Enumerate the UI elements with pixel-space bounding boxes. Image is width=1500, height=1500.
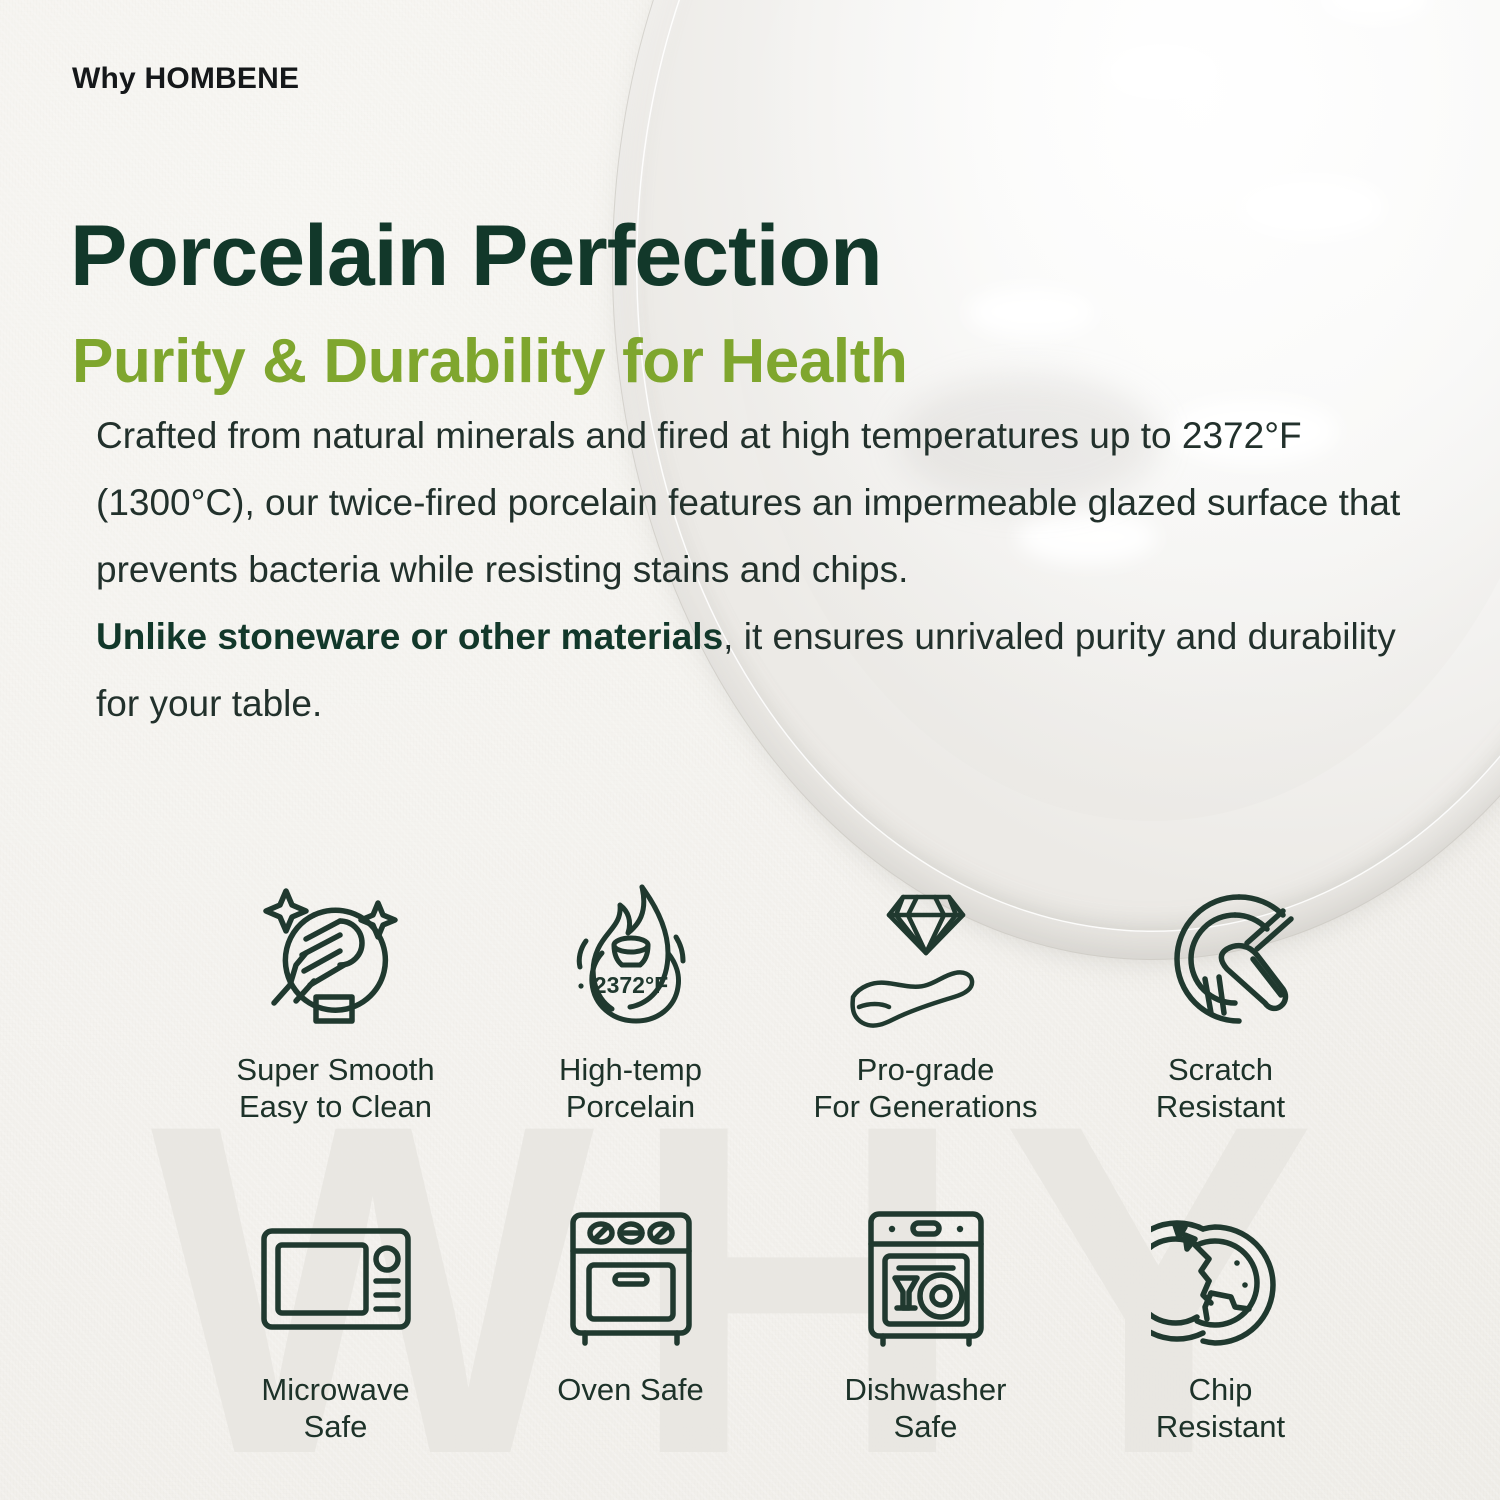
feature-grid: Super Smooth Easy to Clean [188,875,1368,1445]
eyebrow-heading: Why HOMBENE [72,62,299,96]
body-copy: Crafted from natural minerals and fired … [96,402,1416,737]
feature-item-scratch-resistant: Scratch Resistant [1073,875,1368,1125]
body-paragraph-1: Crafted from natural minerals and fired … [96,415,1400,590]
chipped-plate-icon [1151,1195,1291,1363]
diamond-in-hand-icon [841,875,1011,1043]
flame-temperature-icon: 2372°F [556,875,706,1043]
feature-item-super-smooth: Super Smooth Easy to Clean [188,875,483,1125]
infographic-page: WHY Why HOMBENE Porcelain Perfection Pur… [0,0,1500,1500]
feature-label: Pro-grade For Generations [814,1051,1038,1125]
flame-temp-badge: 2372°F [593,972,667,998]
page-title: Porcelain Perfection [70,213,882,299]
knife-scratch-plate-icon [1143,875,1298,1043]
feature-item-chip-resistant: Chip Resistant [1073,1195,1368,1445]
feature-label: High-temp Porcelain [559,1051,702,1125]
sparkle-hand-wipe-icon [256,875,416,1043]
feature-row-1: Super Smooth Easy to Clean [188,875,1368,1125]
feature-item-microwave-safe: Microwave Safe [188,1195,483,1445]
feature-label: Oven Safe [557,1371,703,1408]
feature-label: Super Smooth Easy to Clean [236,1051,434,1125]
feature-item-oven-safe: Oven Safe [483,1195,778,1445]
content-layer: Why HOMBENE Porcelain Perfection Purity … [0,0,1500,1500]
feature-row-2: Microwave Safe [188,1195,1368,1445]
body-paragraph-2-bold: Unlike stoneware or other materials [96,616,723,657]
feature-label: Dishwasher Safe [845,1371,1007,1445]
dishwasher-icon [861,1195,991,1363]
microwave-icon [256,1195,416,1363]
feature-label: Chip Resistant [1156,1371,1285,1445]
feature-item-pro-grade: Pro-grade For Generations [778,875,1073,1125]
feature-item-dishwasher-safe: Dishwasher Safe [778,1195,1073,1445]
feature-label: Microwave Safe [261,1371,409,1445]
feature-label: Scratch Resistant [1156,1051,1285,1125]
page-subtitle: Purity & Durability for Health [72,331,907,393]
oven-stove-icon [561,1195,701,1363]
feature-item-high-temp: 2372°F High-temp Porcelain [483,875,778,1125]
